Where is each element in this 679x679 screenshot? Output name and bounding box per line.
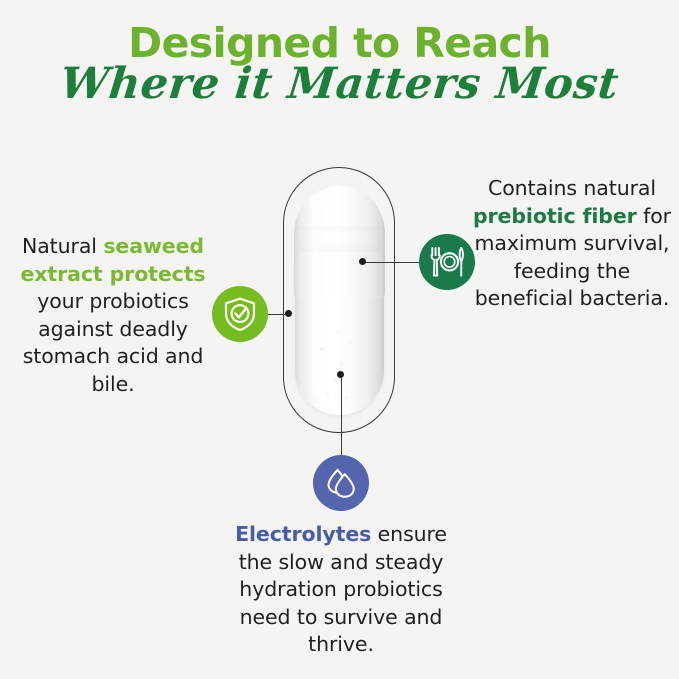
callout-text-prebiotic: Contains natural prebiotic fiber for max…: [472, 175, 672, 313]
connector-line-right: [362, 262, 426, 263]
headline-block: Designed to Reach Where it Matters Most: [0, 20, 679, 108]
callout-text-electrolytes: Electrolytes ensure the slow and steady …: [222, 521, 460, 659]
water-droplets-icon: [313, 455, 369, 511]
probiotic-capsule-image: [294, 186, 385, 415]
infographic-canvas: Designed to Reach Where it Matters Most: [0, 0, 679, 679]
headline-script: Where it Matters Most: [0, 60, 679, 108]
shield-check-icon: [212, 286, 268, 342]
connector-dot-left: [285, 310, 292, 317]
plate-cutlery-icon: [419, 234, 475, 290]
connector-dot-bottom: [337, 371, 344, 378]
connector-dot-right: [359, 258, 366, 265]
callout-text-seaweed: Natural seaweed extract protects your pr…: [8, 233, 218, 398]
callout-highlight-electrolytes: Electrolytes: [235, 522, 371, 546]
callout-lead-prebiotic: Contains natural: [488, 176, 656, 200]
callout-highlight-prebiotic: prebiotic fiber: [473, 204, 637, 228]
callout-tail-seaweed: your probiotics against deadly stomach a…: [23, 289, 204, 396]
capsule-highlight: [307, 194, 322, 394]
callout-lead-seaweed: Natural: [22, 234, 103, 258]
connector-line-bottom: [341, 375, 342, 457]
